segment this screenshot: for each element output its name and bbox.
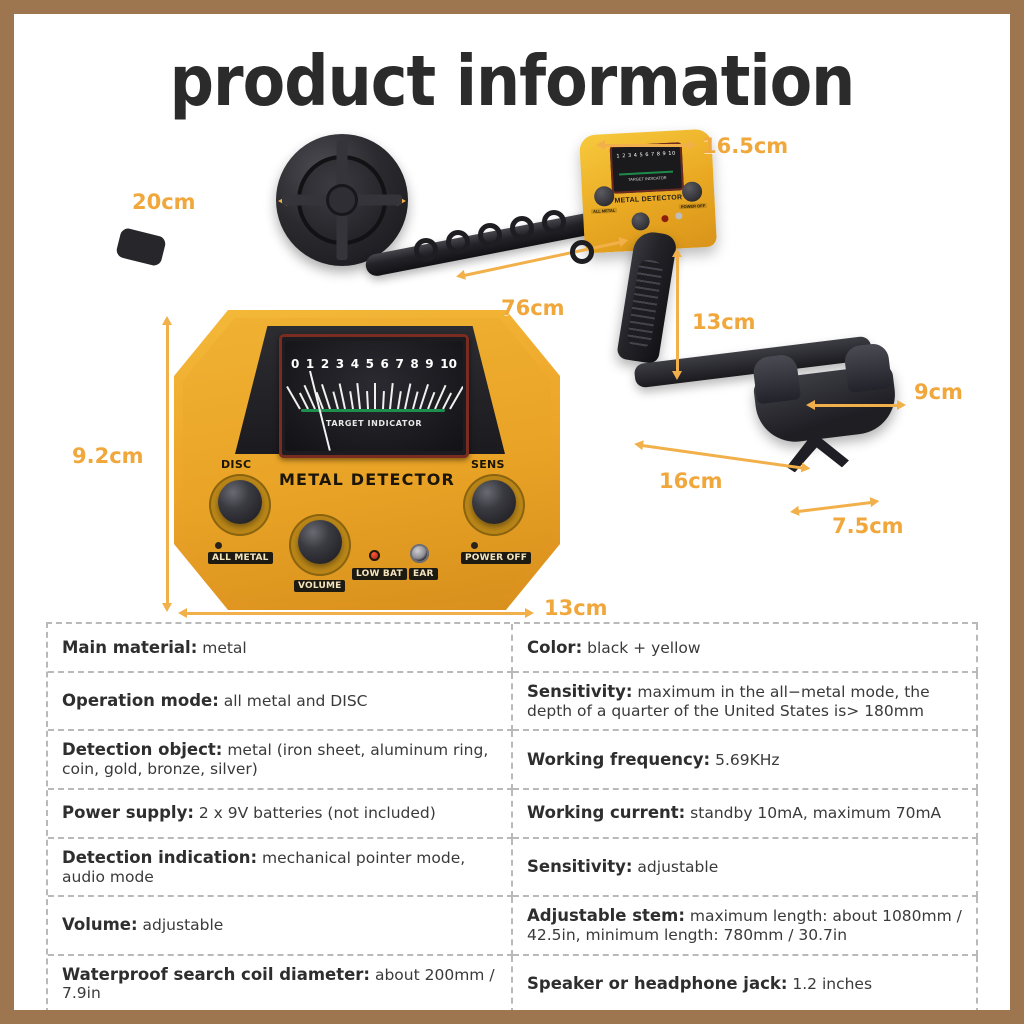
control-box-volume-knob[interactable] xyxy=(631,212,650,231)
meter-tick-label: 6 xyxy=(381,357,389,371)
dimension-arrow-armrest-width xyxy=(814,404,898,407)
spec-value: adjustable xyxy=(633,858,719,876)
meter-tick xyxy=(412,391,419,409)
meter-tick xyxy=(349,391,354,409)
spec-key: Working current: xyxy=(527,803,685,822)
spec-key: Working frequency: xyxy=(527,750,710,769)
meter-tick xyxy=(356,383,361,409)
panel-brand-label: METAL DETECTOR xyxy=(183,470,551,489)
power-off-label: POWER OFF xyxy=(461,552,531,564)
all-metal-dot xyxy=(215,542,222,549)
spec-cell: Operation mode: all metal and DISC xyxy=(48,673,513,731)
coil-mount xyxy=(115,227,167,267)
coil-hub xyxy=(326,184,358,216)
meter-tick xyxy=(382,391,385,409)
meter-tick xyxy=(449,386,463,410)
spec-key: Power supply: xyxy=(62,803,194,822)
spec-key: Waterproof search coil diameter: xyxy=(62,965,370,984)
dimension-arrow-control-box-width xyxy=(604,144,688,147)
meter-tick xyxy=(374,383,376,409)
cable-loop-icon xyxy=(542,210,566,234)
meter-tick-label: 1 xyxy=(306,357,314,371)
dimension-label-control-box-width: 16.5cm xyxy=(702,134,788,158)
meter-tick-label: 0 xyxy=(291,357,299,371)
dimension-label-coil-diameter: 20cm xyxy=(132,190,196,214)
control-box-scale: 1 2 3 4 5 6 7 8 9 10 xyxy=(614,150,678,159)
spec-value: metal xyxy=(197,639,246,657)
spec-key: Detection indication: xyxy=(62,848,257,867)
cable-loop-icon xyxy=(414,238,438,262)
spec-value: adjustable xyxy=(138,916,224,934)
meter-tick-label: 2 xyxy=(321,357,329,371)
spec-cell: Main material: metal xyxy=(48,624,513,673)
spec-value: 5.69KHz xyxy=(710,751,779,769)
dimension-label-shaft-length: 76cm xyxy=(501,296,565,320)
dimension-arrow-armrest-length xyxy=(642,444,803,470)
spec-value: standby 10mA, maximum 70mA xyxy=(685,804,941,822)
dimension-arrow-grip-height xyxy=(676,256,679,372)
meter-tick-label: 5 xyxy=(366,357,374,371)
cable-loop-icon xyxy=(446,230,470,254)
dimension-label-panel-height: 9.2cm xyxy=(72,444,144,468)
dimension-arrow-panel-height xyxy=(166,324,169,604)
spec-cell: Speaker or headphone jack: 1.2 inches xyxy=(513,956,978,1010)
cable-loop-icon xyxy=(478,223,502,247)
power-off-dot xyxy=(471,542,478,549)
spec-cell: Adjustable stem: maximum length: about 1… xyxy=(513,897,978,955)
spec-key: Sensitivity: xyxy=(527,682,633,701)
spec-cell: Working current: standby 10mA, maximum 7… xyxy=(513,790,978,839)
meter-tick-label: 3 xyxy=(336,357,344,371)
main-control-panel: 0 1 2 3 4 5 6 7 8 9 10 xyxy=(174,310,560,610)
cable-loop-icon xyxy=(570,240,594,264)
target-indicator-meter: 0 1 2 3 4 5 6 7 8 9 10 xyxy=(285,341,463,451)
low-bat-led xyxy=(369,550,380,561)
spec-key: Main material: xyxy=(62,638,197,657)
spec-cell: Detection object: metal (iron sheet, alu… xyxy=(48,731,513,789)
control-box-ear-jack[interactable] xyxy=(675,212,682,219)
dimension-label-armrest-length: 16cm xyxy=(659,469,723,493)
control-box-target-indicator: TARGET INDICATOR xyxy=(611,174,683,183)
spec-key: Detection object: xyxy=(62,740,222,759)
grip-ridges xyxy=(626,258,663,349)
control-box-all-metal-tag: ALL METAL xyxy=(591,208,618,214)
meter-tick xyxy=(404,383,411,409)
page-border: product information 1 2 3 4 5 6 7 8 9 10… xyxy=(0,0,1024,1024)
meter-tick xyxy=(397,391,402,409)
spec-cell: Working frequency: 5.69KHz xyxy=(513,731,978,789)
ear-label: EAR xyxy=(409,568,438,580)
dimension-label-foot-width: 7.5cm xyxy=(832,514,904,538)
control-box-screen: 1 2 3 4 5 6 7 8 9 10 TARGET INDICATOR xyxy=(610,142,684,194)
meter-tick xyxy=(366,391,369,409)
spec-key: Volume: xyxy=(62,915,138,934)
spec-key: Color: xyxy=(527,638,582,657)
spec-cell: Waterproof search coil diameter: about 2… xyxy=(48,956,513,1010)
meter-tick-label: 9 xyxy=(425,357,433,371)
dimension-label-armrest-width: 9cm xyxy=(914,380,963,404)
dimension-label-grip-height: 13cm xyxy=(692,310,756,334)
meter-bezel: 0 1 2 3 4 5 6 7 8 9 10 xyxy=(279,334,469,458)
spec-key: Speaker or headphone jack: xyxy=(527,974,787,993)
dimension-arrow-foot-width xyxy=(798,501,872,513)
spec-cell: Volume: adjustable xyxy=(48,897,513,955)
meter-tick xyxy=(339,383,346,409)
spec-cell: Detection indication: mechanical pointer… xyxy=(48,839,513,897)
spec-cell: Color: black + yellow xyxy=(513,624,978,673)
control-box-low-bat-led xyxy=(661,215,668,222)
volume-label: VOLUME xyxy=(294,580,345,592)
product-photo: 1 2 3 4 5 6 7 8 9 10 TARGET INDICATOR ME… xyxy=(14,114,1010,614)
meter-green-band xyxy=(301,409,445,412)
meter-tick-label: 7 xyxy=(395,357,403,371)
meter-tick xyxy=(286,386,301,410)
meter-tick xyxy=(332,391,339,409)
meter-tick-label: 4 xyxy=(351,357,359,371)
specification-table: Main material: metalColor: black + yello… xyxy=(46,622,978,1010)
cable-loop-icon xyxy=(510,216,534,240)
ear-jack[interactable] xyxy=(410,544,429,563)
dimension-arrow-panel-width xyxy=(186,612,526,615)
spec-value: black + yellow xyxy=(582,639,700,657)
spec-value: all metal and DISC xyxy=(219,692,368,710)
low-bat-label: LOW BAT xyxy=(352,568,407,580)
dimension-label-panel-width: 13cm xyxy=(544,596,608,620)
spec-cell: Power supply: 2 x 9V batteries (not incl… xyxy=(48,790,513,839)
page-title: product information xyxy=(14,40,1010,122)
control-box-power-off-tag: POWER OFF xyxy=(679,203,707,209)
spec-key: Operation mode: xyxy=(62,691,219,710)
meter-caption: TARGET INDICATOR xyxy=(285,419,463,428)
volume-knob[interactable] xyxy=(298,520,342,564)
meter-tick-marks xyxy=(299,377,449,409)
spec-cell: Sensitivity: adjustable xyxy=(513,839,978,897)
panel-inner-face: 0 1 2 3 4 5 6 7 8 9 10 xyxy=(183,318,551,602)
meter-tick-label: 8 xyxy=(410,357,418,371)
spec-cell: Sensitivity: maximum in the all−metal mo… xyxy=(513,673,978,731)
spec-key: Sensitivity: xyxy=(527,857,633,876)
meter-tick-label: 10 xyxy=(440,357,457,371)
meter-scale: 0 1 2 3 4 5 6 7 8 9 10 xyxy=(291,357,457,371)
infographic-canvas: product information 1 2 3 4 5 6 7 8 9 10… xyxy=(14,14,1010,1010)
spec-key: Adjustable stem: xyxy=(527,906,685,925)
search-coil xyxy=(276,134,408,266)
all-metal-label: ALL METAL xyxy=(208,552,273,564)
spec-value: 1.2 inches xyxy=(787,975,872,993)
spec-value: 2 x 9V batteries (not included) xyxy=(194,804,436,822)
meter-tick xyxy=(389,383,394,409)
